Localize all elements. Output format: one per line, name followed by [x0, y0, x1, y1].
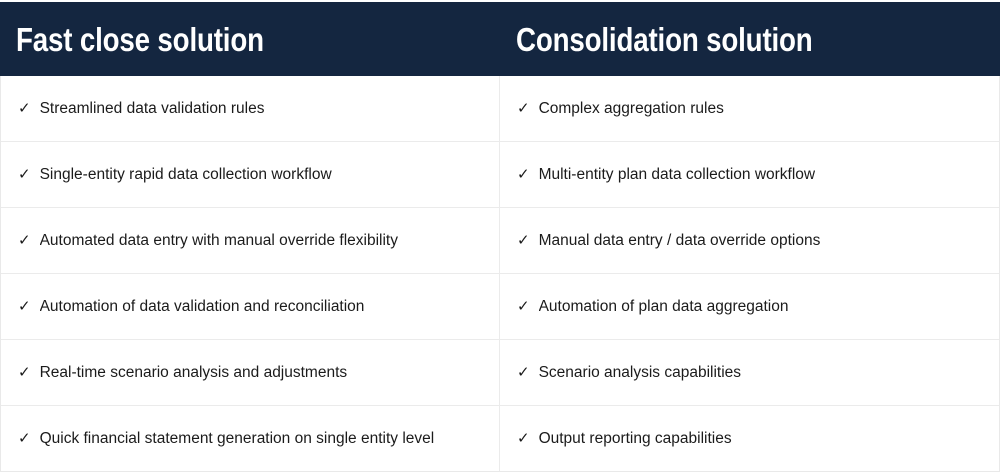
list-item: ✓ Complex aggregation rules	[517, 99, 724, 118]
table-cell-consolidation: ✓ Automation of plan data aggregation	[500, 274, 999, 339]
feature-label: Output reporting capabilities	[539, 429, 732, 448]
table-header-cell-consolidation: Consolidation solution	[500, 2, 1000, 76]
list-item: ✓ Manual data entry / data override opti…	[517, 231, 820, 250]
check-icon: ✓	[18, 365, 31, 380]
feature-label: Automated data entry with manual overrid…	[40, 231, 398, 250]
check-icon: ✓	[517, 233, 530, 248]
table-cell-fast-close: ✓ Quick financial statement generation o…	[1, 406, 500, 471]
feature-label: Quick financial statement generation on …	[40, 429, 435, 448]
check-icon: ✓	[18, 299, 31, 314]
check-icon: ✓	[517, 167, 530, 182]
table-cell-consolidation: ✓ Multi-entity plan data collection work…	[500, 142, 999, 207]
column-title-consolidation: Consolidation solution	[516, 23, 813, 56]
table-row: ✓ Automated data entry with manual overr…	[1, 208, 999, 274]
check-icon: ✓	[18, 431, 31, 446]
table-body: ✓ Streamlined data validation rules ✓ Co…	[0, 76, 1000, 472]
table-cell-fast-close: ✓ Single-entity rapid data collection wo…	[1, 142, 500, 207]
table-cell-fast-close: ✓ Automated data entry with manual overr…	[1, 208, 500, 273]
feature-label: Complex aggregation rules	[539, 99, 724, 118]
list-item: ✓ Automation of plan data aggregation	[517, 297, 789, 316]
check-icon: ✓	[18, 101, 31, 116]
list-item: ✓ Automation of data validation and reco…	[18, 297, 364, 316]
check-icon: ✓	[517, 299, 530, 314]
feature-label: Multi-entity plan data collection workfl…	[539, 165, 816, 184]
table-cell-consolidation: ✓ Output reporting capabilities	[500, 406, 999, 471]
check-icon: ✓	[18, 167, 31, 182]
feature-label: Streamlined data validation rules	[40, 99, 265, 118]
table-cell-fast-close: ✓ Real-time scenario analysis and adjust…	[1, 340, 500, 405]
table-cell-consolidation: ✓ Scenario analysis capabilities	[500, 340, 999, 405]
table-cell-consolidation: ✓ Manual data entry / data override opti…	[500, 208, 999, 273]
list-item: ✓ Multi-entity plan data collection work…	[517, 165, 815, 184]
feature-label: Single-entity rapid data collection work…	[40, 165, 332, 184]
feature-label: Manual data entry / data override option…	[539, 231, 821, 250]
check-icon: ✓	[18, 233, 31, 248]
list-item: ✓ Real-time scenario analysis and adjust…	[18, 363, 347, 382]
list-item: ✓ Quick financial statement generation o…	[18, 429, 434, 448]
list-item: ✓ Scenario analysis capabilities	[517, 363, 741, 382]
check-icon: ✓	[517, 101, 530, 116]
comparison-table: Fast close solution Consolidation soluti…	[0, 0, 1000, 472]
feature-label: Real-time scenario analysis and adjustme…	[40, 363, 348, 382]
table-row: ✓ Single-entity rapid data collection wo…	[1, 142, 999, 208]
table-cell-fast-close: ✓ Automation of data validation and reco…	[1, 274, 500, 339]
feature-label: Automation of plan data aggregation	[539, 297, 789, 316]
list-item: ✓ Single-entity rapid data collection wo…	[18, 165, 332, 184]
check-icon: ✓	[517, 365, 530, 380]
table-cell-fast-close: ✓ Streamlined data validation rules	[1, 76, 500, 141]
feature-label: Automation of data validation and reconc…	[40, 297, 365, 316]
check-icon: ✓	[517, 431, 530, 446]
table-row: ✓ Automation of data validation and reco…	[1, 274, 999, 340]
table-cell-consolidation: ✓ Complex aggregation rules	[500, 76, 999, 141]
column-title-fast-close: Fast close solution	[16, 23, 264, 56]
table-row: ✓ Streamlined data validation rules ✓ Co…	[1, 76, 999, 142]
table-header-cell-fast-close: Fast close solution	[0, 2, 500, 76]
feature-label: Scenario analysis capabilities	[539, 363, 741, 382]
list-item: ✓ Automated data entry with manual overr…	[18, 231, 398, 250]
list-item: ✓ Output reporting capabilities	[517, 429, 732, 448]
table-row: ✓ Quick financial statement generation o…	[1, 406, 999, 471]
table-row: ✓ Real-time scenario analysis and adjust…	[1, 340, 999, 406]
list-item: ✓ Streamlined data validation rules	[18, 99, 264, 118]
table-header-row: Fast close solution Consolidation soluti…	[0, 0, 1000, 76]
